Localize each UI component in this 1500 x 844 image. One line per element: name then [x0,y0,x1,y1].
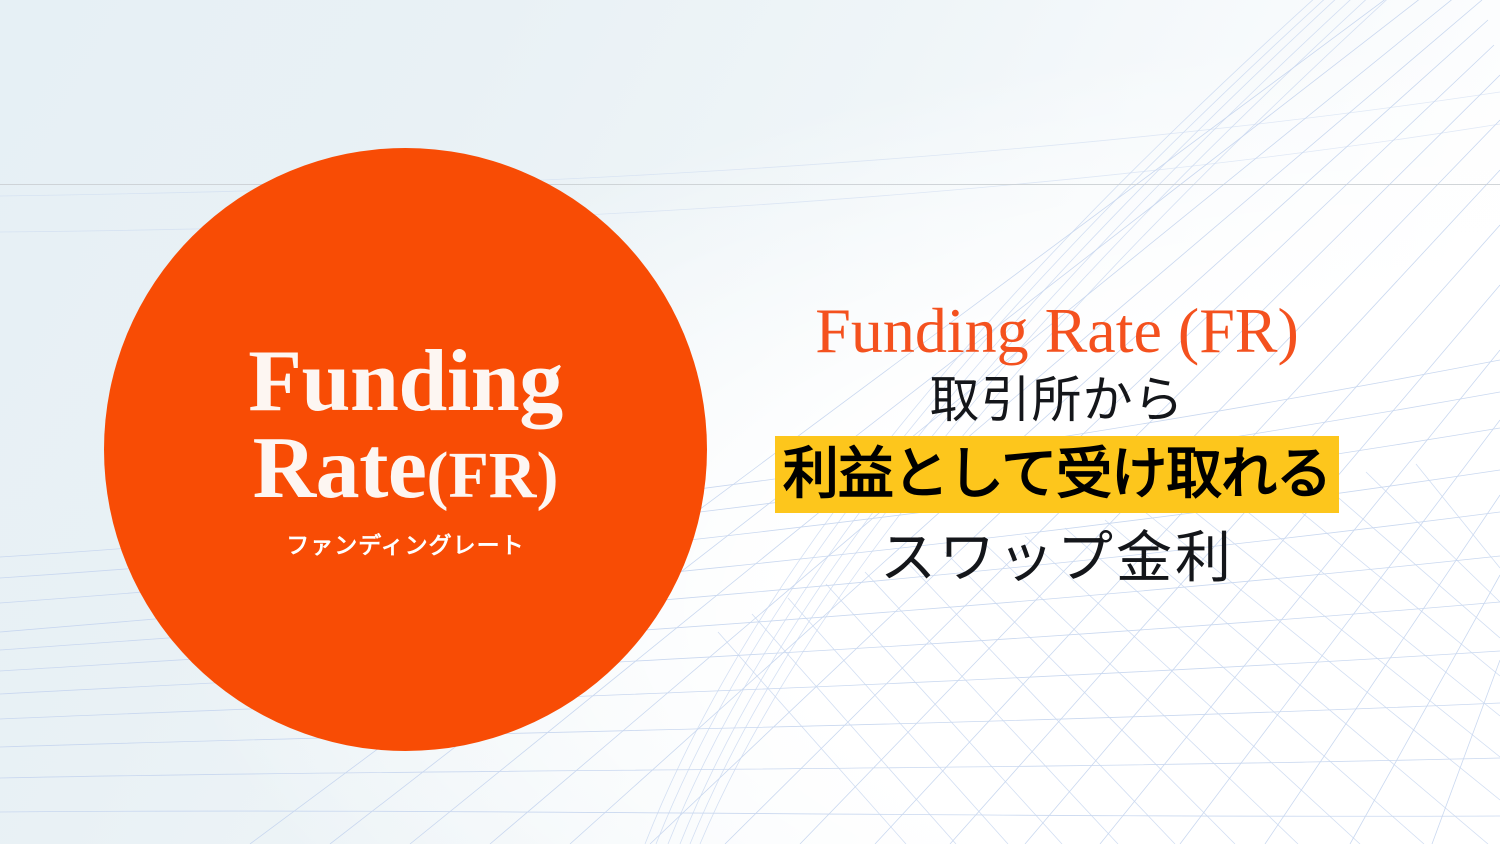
badge-title-abbr: (FR) [426,439,558,512]
body-text-block: Funding Rate (FR) 取引所から 利益として受け取れる スワップ金… [757,296,1357,593]
body-line-3-highlighted: 利益として受け取れる [775,436,1339,513]
badge-title-line2: Rate(FR) [248,426,562,512]
body-line-4: スワップ金利 [757,525,1357,592]
badge-subtitle-katakana: ファンディングレート [286,526,524,560]
body-line-2: 取引所から [757,371,1357,430]
badge-title-line2-word: Rate [253,420,427,517]
slide-canvas: Funding Rate(FR) ファンディングレート Funding Rate… [0,0,1500,844]
body-heading: Funding Rate (FR) [757,296,1357,365]
funding-rate-badge: Funding Rate(FR) ファンディングレート [104,148,707,751]
badge-title-line1: Funding [248,333,562,430]
horizontal-rule [0,184,1500,185]
badge-title: Funding Rate(FR) [248,339,562,511]
body-line-3-wrapper: 利益として受け取れる [757,436,1357,513]
